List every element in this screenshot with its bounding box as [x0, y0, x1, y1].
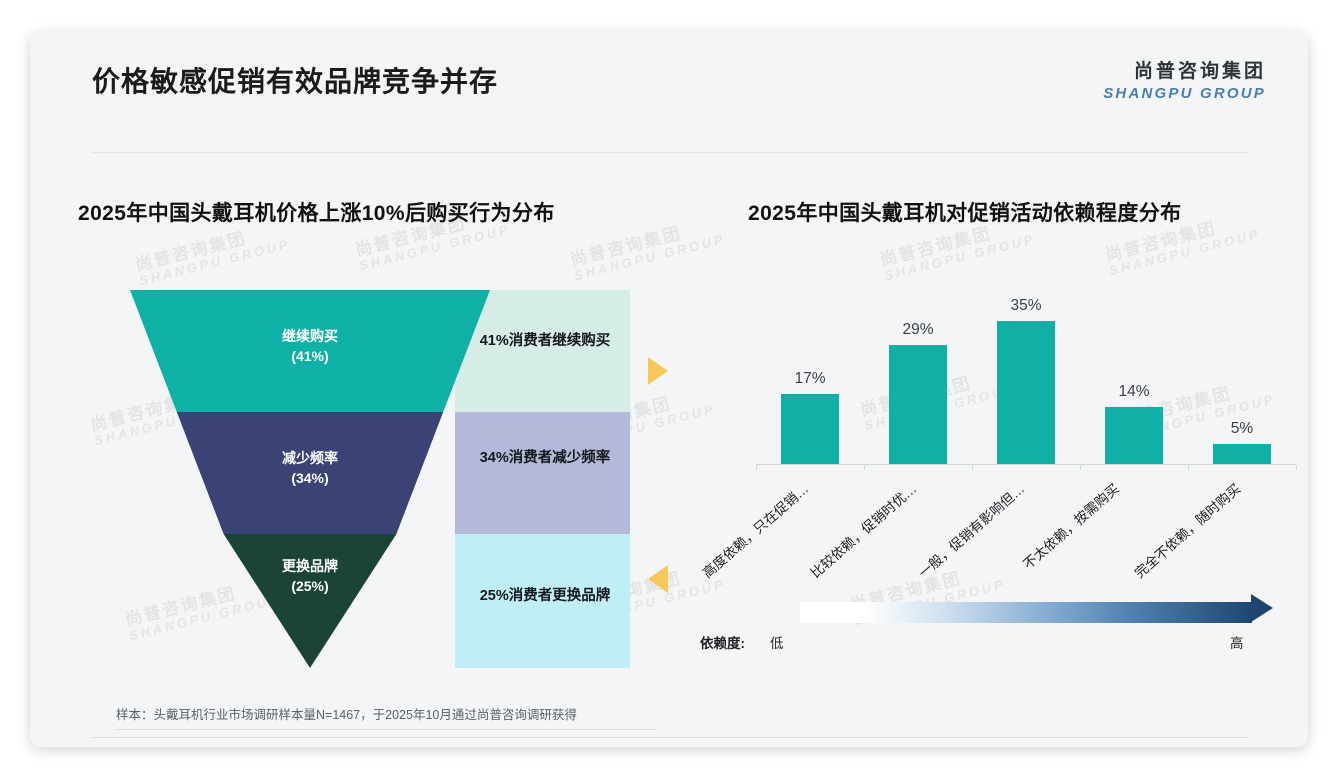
funnel-segment-2: 更换品牌 (25%) — [130, 534, 490, 668]
logo-en-text: SHANGPU GROUP — [1103, 85, 1266, 102]
bar-4 — [1213, 444, 1271, 464]
bar-value-2: 35% — [981, 297, 1071, 315]
play-triangle-right-icon — [648, 357, 668, 385]
dependency-gradient-legend: 依赖度: 低 高 — [730, 598, 1308, 668]
logo-cn-text: 尚普咨询集团 — [1103, 56, 1266, 83]
funnel-desc-0: 41%消费者继续购买 — [455, 329, 635, 350]
axis-tick — [1188, 465, 1189, 470]
dependency-bar-chart: 17% 29% 35% 14% 5% 高度依赖，只在促销… 比较依赖，促销时优…… — [730, 268, 1308, 468]
axis-tick — [864, 465, 865, 470]
axis-tick — [1296, 465, 1297, 470]
bar-0 — [781, 394, 839, 464]
funnel-value-0: (41%) — [291, 348, 328, 364]
slide-header: 价格敏感促销有效品牌竞争并存 尚普咨询集团 SHANGPU GROUP — [30, 32, 1308, 120]
funnel-desc-1: 34%消费者减少频率 — [455, 446, 635, 467]
gradient-bar — [800, 602, 1252, 623]
funnel-label-2: 更换品牌 — [282, 558, 338, 574]
header-divider — [92, 152, 1247, 153]
funnel-chart: 继续购买 (41%) 减少频率 (34%) 更换品牌 (25%) 41%消费者继… — [30, 32, 690, 747]
x-label-0: 高度依赖，只在促销… — [697, 478, 812, 582]
funnel-value-2: (25%) — [291, 578, 328, 594]
axis-tick — [972, 465, 973, 470]
funnel-value-1: (34%) — [291, 470, 328, 486]
x-label-2: 一般，促销有影响但… — [913, 478, 1028, 582]
funnel-segment-1: 减少频率 (34%) — [130, 412, 490, 534]
page-title: 价格敏感促销有效品牌竞争并存 — [92, 60, 498, 100]
left-chart-title: 2025年中国头戴耳机价格上涨10%后购买行为分布 — [78, 197, 555, 227]
play-triangle-left-icon — [648, 565, 668, 593]
funnel-panel-1 — [455, 412, 630, 534]
legend-title: 依赖度: — [700, 632, 745, 652]
legend-low-label: 低 — [770, 632, 784, 652]
bar-2 — [997, 321, 1055, 464]
right-chart-title: 2025年中国头戴耳机对促销活动依赖程度分布 — [748, 197, 1182, 227]
bar-3 — [1105, 407, 1163, 464]
funnel-desc-2: 25%消费者更换品牌 — [455, 584, 635, 605]
x-label-1: 比较依赖，促销时优… — [805, 478, 920, 582]
axis-tick — [756, 465, 757, 470]
funnel-segment-0: 继续购买 (41%) — [130, 290, 490, 412]
bar-value-1: 29% — [873, 321, 963, 339]
bar-value-0: 17% — [765, 370, 855, 388]
funnel-label-1: 减少频率 — [282, 450, 338, 466]
brand-logo: 尚普咨询集团 SHANGPU GROUP — [1103, 56, 1266, 102]
funnel-label-0: 继续购买 — [282, 328, 338, 344]
x-axis-line — [756, 464, 1296, 465]
x-label-3: 不太依赖，按需购买 — [1018, 478, 1123, 573]
axis-tick — [1080, 465, 1081, 470]
bar-1 — [889, 345, 947, 464]
slide-footer: ©2025.12 SHANGPU GROUP www.shangpu-china… — [92, 737, 1247, 747]
bar-value-4: 5% — [1197, 420, 1287, 438]
bar-value-3: 14% — [1089, 383, 1179, 401]
slide-card: 尚普咨询集团SHANGPU GROUP 尚普咨询集团SHANGPU GROUP … — [30, 32, 1308, 747]
x-label-4: 完全不依赖，随时购买 — [1129, 478, 1244, 582]
legend-high-label: 高 — [1230, 632, 1244, 652]
sample-footnote: 样本：头戴耳机行业市场调研样本量N=1467，于2025年10月通过尚普咨询调研… — [116, 704, 656, 730]
gradient-arrow-head-icon — [1251, 594, 1273, 622]
